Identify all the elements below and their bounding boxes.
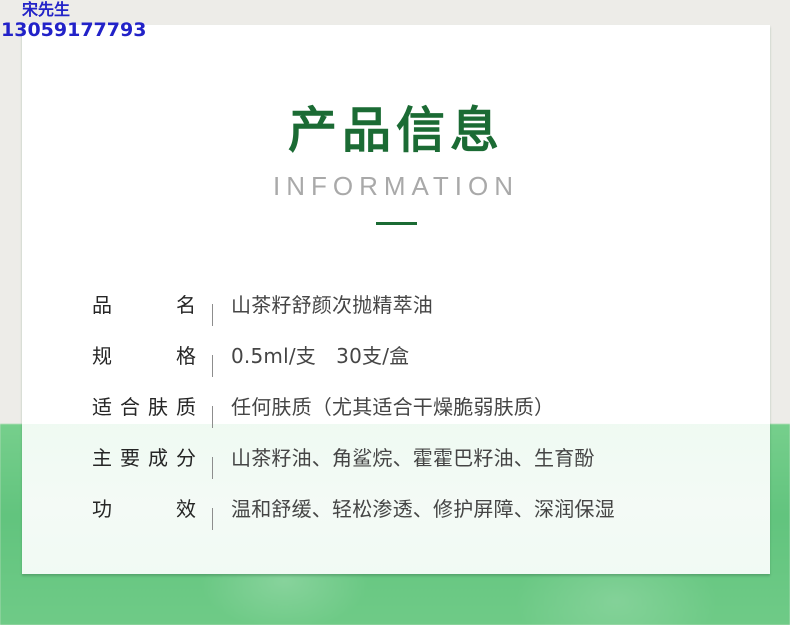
- spec-row-effects: 功效 温和舒缓、轻松渗透、修护屏障、深润保湿: [92, 493, 742, 544]
- spec-label: 规格: [92, 340, 196, 369]
- spec-value: 0.5ml/支 30支/盒: [231, 340, 742, 369]
- spec-divider: [212, 406, 213, 428]
- spec-divider: [212, 457, 213, 479]
- title-underline-rule: [376, 222, 417, 225]
- spec-label: 品名: [92, 289, 196, 318]
- product-info-page: 产品信息 INFORMATION 品名 山茶籽舒颜次抛精萃油 规格 0.5ml/…: [0, 0, 790, 625]
- spec-value: 山茶籽油、角鲨烷、霍霍巴籽油、生育酚: [231, 442, 742, 471]
- product-info-card: 产品信息 INFORMATION 品名 山茶籽舒颜次抛精萃油 规格 0.5ml/…: [22, 25, 770, 574]
- spec-value: 山茶籽舒颜次抛精萃油: [231, 289, 742, 318]
- page-subtitle: INFORMATION: [22, 156, 770, 199]
- card-header: 产品信息 INFORMATION: [22, 25, 770, 225]
- spec-label: 功效: [92, 493, 196, 522]
- spec-divider: [212, 508, 213, 530]
- spec-label: 适合肤质: [92, 391, 196, 420]
- spec-row-ingredients: 主要成分 山茶籽油、角鲨烷、霍霍巴籽油、生育酚: [92, 442, 742, 493]
- spec-value: 温和舒缓、轻松渗透、修护屏障、深润保湿: [231, 493, 742, 522]
- spec-label: 主要成分: [92, 442, 196, 471]
- spec-divider: [212, 304, 213, 326]
- watermark-seller-name: 宋先生: [0, 0, 146, 18]
- spec-value: 任何肤质（尤其适合干燥脆弱肤质）: [231, 391, 742, 420]
- product-spec-list: 品名 山茶籽舒颜次抛精萃油 规格 0.5ml/支 30支/盒 适合肤质 任何肤质…: [92, 289, 742, 544]
- page-title: 产品信息: [22, 25, 770, 156]
- spec-divider: [212, 355, 213, 377]
- spec-row-specification: 规格 0.5ml/支 30支/盒: [92, 340, 742, 391]
- spec-row-skin-type: 适合肤质 任何肤质（尤其适合干燥脆弱肤质）: [92, 391, 742, 442]
- spec-row-product-name: 品名 山茶籽舒颜次抛精萃油: [92, 289, 742, 340]
